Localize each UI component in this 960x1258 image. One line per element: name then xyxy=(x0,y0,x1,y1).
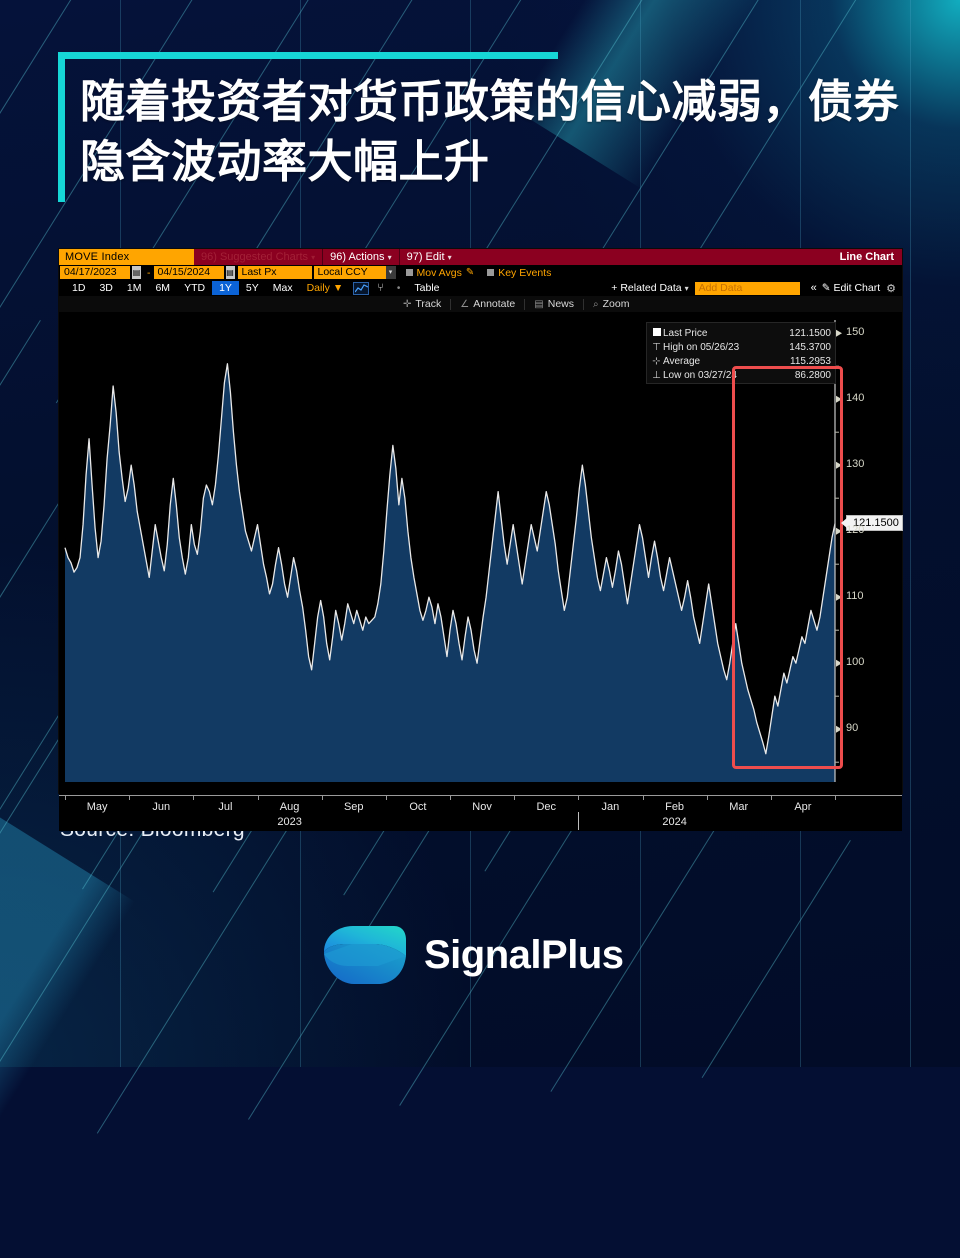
accent-bar-left xyxy=(58,52,65,202)
headline-block: 随着投资者对货币政策的信心减弱，债券隐含波动率大幅上升 xyxy=(58,52,918,193)
high-marker-icon: ⊤ xyxy=(650,342,663,353)
chevron-down-icon: ▼ xyxy=(333,282,343,294)
bloomberg-chart-panel: MOVE Index 96) Suggested Charts ▾ 96) Ac… xyxy=(58,248,903,794)
edit-chart-label: Edit Chart xyxy=(833,282,880,294)
x-axis-tick-label: Dec xyxy=(536,801,556,813)
x-axis-tick xyxy=(386,796,387,800)
chart-plot-area: Last Price 121.1500 ⊤ High on 05/26/23 1… xyxy=(59,312,902,795)
y-axis-tick-label: 150 xyxy=(846,326,864,338)
x-axis-tick-label: Nov xyxy=(472,801,492,813)
search-icon: ⌕ xyxy=(593,299,599,310)
x-axis-tick-label: Feb xyxy=(665,801,684,813)
legend-value: 115.2953 xyxy=(790,356,831,367)
x-axis-tick xyxy=(193,796,194,800)
period-ytd[interactable]: YTD xyxy=(177,281,212,295)
year-divider xyxy=(578,812,579,830)
actions-menu[interactable]: 96) Actions ▾ xyxy=(323,249,399,265)
edit-chart-button[interactable]: ✎ Edit Chart xyxy=(822,282,880,294)
related-data-label: + Related Data xyxy=(611,282,681,294)
x-axis-tick-label: Aug xyxy=(280,801,300,813)
x-axis-tick-label: Apr xyxy=(794,801,811,813)
signalplus-wordmark: SignalPlus xyxy=(424,933,624,978)
x-axis-year-label: 2023 xyxy=(277,816,301,828)
collapse-icon[interactable]: « xyxy=(811,282,817,294)
track-tool[interactable]: ✛ Track xyxy=(394,298,450,310)
news-icon: ▤ xyxy=(534,299,543,310)
frequency-label: Daily xyxy=(307,282,330,294)
legend-row: ⊤ High on 05/26/23 145.3700 xyxy=(650,340,831,354)
terminal-tools-row: ✛ Track ∠ Annotate ▤ News ⌕ Zoom xyxy=(59,296,902,312)
accent-bar-top xyxy=(58,52,558,59)
low-marker-icon: ⊥ xyxy=(650,370,663,381)
suggested-charts-label: 96) Suggested Charts xyxy=(201,251,308,263)
x-axis-tick xyxy=(707,796,708,800)
x-axis-tick xyxy=(514,796,515,800)
add-data-input[interactable]: Add Data xyxy=(695,282,800,295)
related-data-menu[interactable]: + Related Data ▾ xyxy=(611,282,688,294)
ticker-field[interactable]: MOVE Index xyxy=(59,249,194,265)
pencil-icon[interactable]: ✎ xyxy=(466,267,474,278)
terminal-titlebar: MOVE Index 96) Suggested Charts ▾ 96) Ac… xyxy=(59,249,902,265)
pencil-icon: ✎ xyxy=(822,282,831,294)
x-axis-tick xyxy=(322,796,323,800)
track-label: Track xyxy=(415,298,441,310)
annotate-icon: ∠ xyxy=(460,299,469,310)
x-axis-tick xyxy=(835,796,836,800)
x-axis-year-label: 2024 xyxy=(662,816,686,828)
x-axis-tick xyxy=(129,796,130,800)
y-axis-tick-label: 140 xyxy=(846,392,864,404)
legend-row: Last Price 121.1500 xyxy=(650,326,831,340)
edit-menu[interactable]: 97) Edit ▾ xyxy=(400,249,459,265)
terminal-fields-row: 04/17/2023 ▤ - 04/15/2024 ▤ Last Px Loca… xyxy=(59,265,902,280)
zoom-tool[interactable]: ⌕ Zoom xyxy=(584,298,638,310)
highlight-rectangle xyxy=(732,366,843,769)
titlebar-spacer xyxy=(459,249,840,265)
terminal-period-row: 1D 3D 1M 6M YTD 1Y 5Y Max Daily ▼ ⑂ • Ta… xyxy=(59,280,902,296)
chart-type-label: Line Chart xyxy=(840,249,902,265)
line-chart-icon[interactable] xyxy=(353,282,369,295)
x-axis: MayJunJulAugSepOctNovDecJanFebMarApr2023… xyxy=(59,795,902,831)
x-axis-tick xyxy=(258,796,259,800)
y-axis-tick-label: 130 xyxy=(846,458,864,470)
calendar-icon[interactable]: ▤ xyxy=(132,266,141,279)
period-1y-selected[interactable]: 1Y xyxy=(212,281,239,295)
gear-icon[interactable]: ⚙ xyxy=(886,282,896,295)
x-axis-tick xyxy=(65,796,66,800)
zoom-label: Zoom xyxy=(603,298,630,310)
frequency-select[interactable]: Daily ▼ xyxy=(300,281,351,295)
annotate-tool[interactable]: ∠ Annotate xyxy=(451,298,524,310)
y-axis-tick-label: 90 xyxy=(846,722,858,734)
page-title: 随着投资者对货币政策的信心减弱，债券隐含波动率大幅上升 xyxy=(80,52,920,193)
x-axis-tick xyxy=(643,796,644,800)
date-range-dash: - xyxy=(147,267,151,279)
last-price-swatch-icon xyxy=(650,328,663,339)
legend-label: High on 05/26/23 xyxy=(663,342,789,353)
news-label: News xyxy=(548,298,574,310)
y-axis-tick-label: 120 xyxy=(846,524,864,536)
x-axis-tick-label: Jul xyxy=(218,801,232,813)
currency-select[interactable]: Local CCY xyxy=(314,266,386,279)
date-from-input[interactable]: 04/17/2023 xyxy=(60,266,130,279)
news-tool[interactable]: ▤ News xyxy=(525,298,583,310)
key-events-checkbox[interactable] xyxy=(487,269,494,276)
x-axis-tick-label: Jun xyxy=(152,801,170,813)
key-events-label: Key Events xyxy=(498,267,551,279)
legend-label: Average xyxy=(663,356,790,367)
x-axis-tick xyxy=(450,796,451,800)
legend-label: Last Price xyxy=(663,328,789,339)
chevron-down-icon[interactable]: ▾ xyxy=(386,266,396,279)
mov-avgs-checkbox[interactable] xyxy=(406,269,413,276)
x-axis-tick xyxy=(578,796,579,800)
period-3d[interactable]: 3D xyxy=(92,281,119,295)
x-axis-tick-label: May xyxy=(87,801,108,813)
period-6m[interactable]: 6M xyxy=(148,281,177,295)
period-5y[interactable]: 5Y xyxy=(239,281,266,295)
x-axis-tick-label: Oct xyxy=(409,801,426,813)
average-marker-icon: ⊹ xyxy=(650,356,663,367)
x-axis-tick-label: Mar xyxy=(729,801,748,813)
signalplus-logo: SignalPlus xyxy=(322,922,624,988)
suggested-charts-menu[interactable]: 96) Suggested Charts ▾ xyxy=(194,249,322,265)
actions-label: 96) Actions xyxy=(330,251,384,263)
date-to-input[interactable]: 04/15/2024 xyxy=(154,266,224,279)
period-max[interactable]: Max xyxy=(266,281,300,295)
signalplus-mark-icon xyxy=(322,922,408,988)
chevron-down-icon: ▾ xyxy=(448,253,452,262)
table-button[interactable]: Table xyxy=(414,282,439,294)
legend-value: 145.3700 xyxy=(789,342,831,353)
period-1m[interactable]: 1M xyxy=(120,281,149,295)
track-icon: ✛ xyxy=(403,299,411,310)
chevron-down-icon: ▾ xyxy=(311,253,315,262)
chevron-down-icon: ▾ xyxy=(685,284,689,293)
calendar-icon[interactable]: ▤ xyxy=(226,266,235,279)
y-axis-tick-label: 110 xyxy=(846,590,864,602)
legend-value: 121.1500 xyxy=(789,328,831,339)
edit-label: 97) Edit xyxy=(407,251,445,263)
annotate-label: Annotate xyxy=(473,298,515,310)
x-axis-tick xyxy=(771,796,772,800)
price-field-select[interactable]: Last Px xyxy=(238,266,312,279)
more-options-icon[interactable]: • xyxy=(397,283,401,294)
x-axis-tick-label: Jan xyxy=(602,801,620,813)
x-axis-tick-label: Sep xyxy=(344,801,364,813)
bar-chart-icon[interactable]: ⑂ xyxy=(377,282,384,294)
chevron-down-icon: ▾ xyxy=(388,253,392,262)
mov-avgs-label: Mov Avgs xyxy=(417,267,462,279)
period-1d[interactable]: 1D xyxy=(65,281,92,295)
y-axis-tick-label: 100 xyxy=(846,656,864,668)
